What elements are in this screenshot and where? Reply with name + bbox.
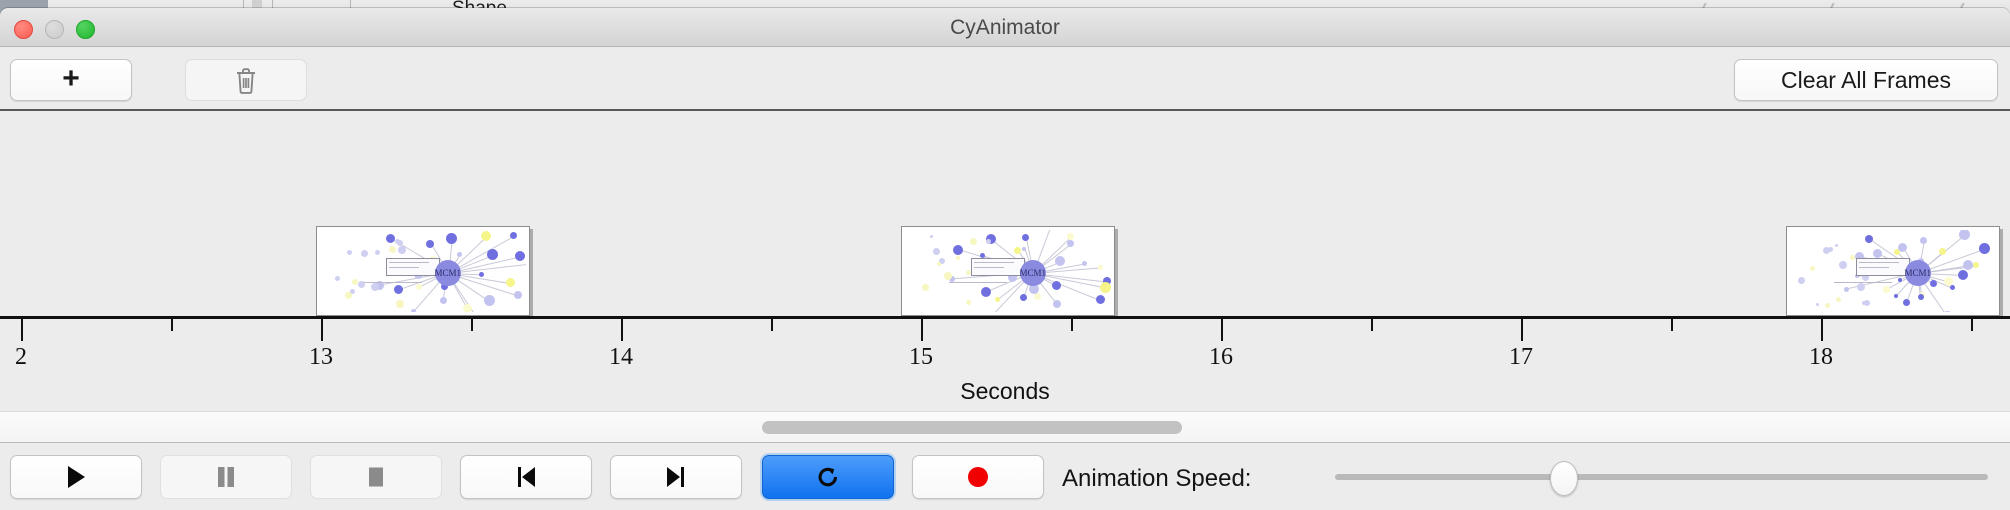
thumbnail-node xyxy=(1898,243,1907,252)
thumbnail-hub-node: MCM1 xyxy=(435,260,461,286)
axis-tick-major xyxy=(921,319,923,341)
window-titlebar[interactable]: CyAnimator xyxy=(0,8,2010,47)
axis-tick-major xyxy=(1521,319,1523,341)
thumbnail-node xyxy=(389,246,396,253)
cyanimator-window: CyAnimator + Clear All Frames MCM1MCM1MC… xyxy=(0,8,2010,510)
thumbnail-node xyxy=(481,231,491,241)
thumbnail-node xyxy=(514,291,522,299)
thumbnail-node xyxy=(1020,294,1027,301)
thumbnail-node xyxy=(1816,303,1819,306)
thumbnail-node xyxy=(484,295,495,306)
thumbnail-node xyxy=(396,300,404,308)
thumbnail-node xyxy=(1100,282,1111,293)
add-frame-button[interactable]: + xyxy=(10,59,132,101)
axis-tick-major xyxy=(621,319,623,341)
axis-tick-label: 18 xyxy=(1809,344,1833,371)
axis-tick-label: 16 xyxy=(1209,344,1233,371)
thumbnail-node xyxy=(1857,283,1865,291)
axis-tick-minor xyxy=(771,319,773,331)
thumbnail-node xyxy=(922,284,929,291)
thumbnail-node xyxy=(1883,286,1890,293)
playback-controls: Animation Speed: xyxy=(0,443,2010,510)
thumbnail-node xyxy=(1096,295,1105,304)
thumbnail-node xyxy=(1067,240,1074,247)
axis-tick-minor xyxy=(471,319,473,331)
play-button[interactable] xyxy=(10,455,142,499)
thumbnail-hub-node: MCM1 xyxy=(1020,260,1046,286)
thumbnail-node xyxy=(1798,277,1805,284)
thumbnail-node xyxy=(970,238,977,245)
timeline-axis: 2131415161718 Seconds xyxy=(0,316,2010,411)
thumbnail-node xyxy=(1825,303,1830,308)
thumbnail-node xyxy=(371,283,379,291)
plus-icon: + xyxy=(62,64,80,94)
keyframe-strip: MCM1MCM1MCM1 xyxy=(0,111,2010,316)
thumbnail-node xyxy=(440,297,447,304)
thumbnail-node xyxy=(995,297,1000,302)
thumbnail-node xyxy=(335,276,340,281)
thumbnail-node xyxy=(515,251,525,261)
keyframe-thumbnail[interactable]: MCM1 xyxy=(316,226,530,316)
thumbnail-tooltip-line xyxy=(1859,267,1889,268)
thumbnail-node xyxy=(398,246,406,254)
thumbnail-tooltip-line xyxy=(1859,262,1899,263)
thumbnail-node xyxy=(1839,261,1847,269)
axis-tick-major xyxy=(321,319,323,341)
axis-tick-label: 17 xyxy=(1509,344,1533,371)
window-title: CyAnimator xyxy=(0,16,2010,40)
thumbnail-node xyxy=(506,278,515,287)
scrollbar-thumb[interactable] xyxy=(762,421,1182,434)
thumbnail-caption-line xyxy=(1834,282,1892,283)
thumbnail-node xyxy=(1098,265,1103,270)
loop-icon xyxy=(815,464,841,490)
thumbnail-node xyxy=(1898,278,1902,282)
thumbnail-node xyxy=(1067,233,1074,240)
keyframe-thumbnail-image: MCM1 xyxy=(905,230,1111,312)
clear-all-frames-label: Clear All Frames xyxy=(1781,67,1951,94)
thumbnail-node xyxy=(953,245,963,255)
thumbnail-node xyxy=(479,272,484,277)
thumbnail-node xyxy=(1850,255,1855,260)
stop-icon xyxy=(365,465,387,489)
thumbnail-node xyxy=(1055,256,1065,266)
skip-forward-icon xyxy=(664,465,688,489)
thumbnail-node xyxy=(1052,281,1061,290)
trash-icon xyxy=(234,67,258,94)
thumbnail-node xyxy=(1950,285,1955,290)
thumbnail-node xyxy=(1943,311,1952,312)
animation-speed-label: Animation Speed: xyxy=(1062,465,1251,493)
axis-tick-major xyxy=(1221,319,1223,341)
axis-tick-minor xyxy=(1671,319,1673,331)
thumbnail-node xyxy=(1828,247,1833,252)
delete-frame-button[interactable] xyxy=(185,59,307,101)
thumbnail-node xyxy=(487,249,498,260)
thumbnail-node xyxy=(1082,261,1087,266)
thumbnail-node xyxy=(375,250,380,255)
axis-tick-label: 2 xyxy=(15,344,27,371)
thumbnail-node xyxy=(966,300,971,305)
pause-icon xyxy=(215,465,237,489)
thumbnail-node xyxy=(411,309,416,312)
thumbnail-node xyxy=(1918,294,1924,300)
axis-tick-minor xyxy=(171,319,173,331)
axis-title: Seconds xyxy=(0,378,2010,405)
thumbnail-node xyxy=(1053,300,1061,308)
thumbnail-node xyxy=(1836,297,1841,302)
axis-tick-minor xyxy=(1371,319,1373,331)
pause-button[interactable] xyxy=(160,455,292,499)
thumbnail-node xyxy=(457,252,462,257)
thumbnail-caption-line xyxy=(364,282,422,283)
thumbnail-node xyxy=(956,256,960,260)
axis-tick-major xyxy=(1821,319,1823,341)
record-button[interactable] xyxy=(912,455,1044,499)
loop-button[interactable] xyxy=(762,455,894,499)
axis-tick-minor xyxy=(1071,319,1073,331)
cyanimator-screen: Shape CyAnimator + xyxy=(0,0,2010,510)
thumbnail-node xyxy=(347,250,352,255)
play-icon xyxy=(65,465,87,489)
axis-tick-minor xyxy=(1971,319,1973,331)
thumbnail-node xyxy=(1810,266,1815,271)
toolbar: + Clear All Frames xyxy=(0,47,2010,111)
thumbnail-node xyxy=(930,235,933,238)
thumbnail-node xyxy=(1979,243,1990,254)
thumbnail-node xyxy=(1903,299,1910,306)
thumbnail-node xyxy=(986,239,991,244)
keyframe-thumbnail-image: MCM1 xyxy=(320,230,526,312)
thumbnail-node xyxy=(1920,237,1927,244)
thumbnail-node xyxy=(1894,294,1898,298)
thumbnail-node xyxy=(1865,235,1873,243)
axis-tick-label: 14 xyxy=(609,344,633,371)
thumbnail-tooltip-line xyxy=(974,262,1014,263)
thumbnail-node xyxy=(1963,260,1973,270)
animation-speed-slider[interactable] xyxy=(1335,455,1988,497)
thumbnail-node xyxy=(345,292,352,299)
timeline-scrollbar[interactable] xyxy=(0,411,2010,443)
thumbnail-node xyxy=(446,233,457,244)
keyframe-thumbnail-image: MCM1 xyxy=(1790,230,1996,312)
thumbnail-node xyxy=(416,284,422,290)
thumbnail-node xyxy=(1930,280,1937,287)
skip-start-button[interactable] xyxy=(460,455,592,499)
thumbnail-caption-line xyxy=(949,282,1007,283)
keyframe-thumbnail[interactable]: MCM1 xyxy=(901,226,1115,316)
thumbnail-node xyxy=(1939,248,1946,255)
thumbnail-tooltip-line xyxy=(974,267,1004,268)
skip-back-icon xyxy=(514,465,538,489)
stop-button[interactable] xyxy=(310,455,442,499)
thumbnail-hub-node: MCM1 xyxy=(1905,260,1931,286)
keyframe-thumbnail[interactable]: MCM1 xyxy=(1786,226,2000,316)
thumbnail-node xyxy=(1873,249,1882,258)
thumbnail-node xyxy=(933,248,940,255)
axis-line xyxy=(0,316,2010,319)
axis-tick-label: 15 xyxy=(909,344,933,371)
thumbnail-node xyxy=(1958,270,1968,280)
thumbnail-node xyxy=(1835,244,1838,247)
thumbnail-tooltip-line xyxy=(389,262,429,263)
thumbnail-node xyxy=(1022,234,1029,241)
clear-all-frames-button[interactable]: Clear All Frames xyxy=(1734,59,1998,101)
thumbnail-tooltip-line xyxy=(389,267,419,268)
slider-thumb[interactable] xyxy=(1550,461,1578,496)
thumbnail-node xyxy=(981,287,991,297)
axis-tick-label: 13 xyxy=(309,344,333,371)
slider-track xyxy=(1335,474,1988,480)
thumbnail-node xyxy=(937,262,941,266)
thumbnail-node xyxy=(361,250,368,257)
thumbnail-node xyxy=(1959,230,1970,240)
thumbnail-node xyxy=(395,239,400,244)
timeline-panel[interactable]: MCM1MCM1MCM1 2131415161718 Seconds xyxy=(0,111,2010,411)
thumbnail-node xyxy=(1973,262,1979,268)
record-icon xyxy=(965,464,991,490)
skip-end-button[interactable] xyxy=(610,455,742,499)
thumbnail-node xyxy=(386,234,395,243)
thumbnail-node xyxy=(463,304,472,312)
thumbnail-node xyxy=(1864,300,1870,306)
axis-tick-major xyxy=(21,319,23,341)
thumbnail-node xyxy=(510,232,517,239)
thumbnail-node xyxy=(1844,287,1849,292)
thumbnail-node xyxy=(394,285,403,294)
